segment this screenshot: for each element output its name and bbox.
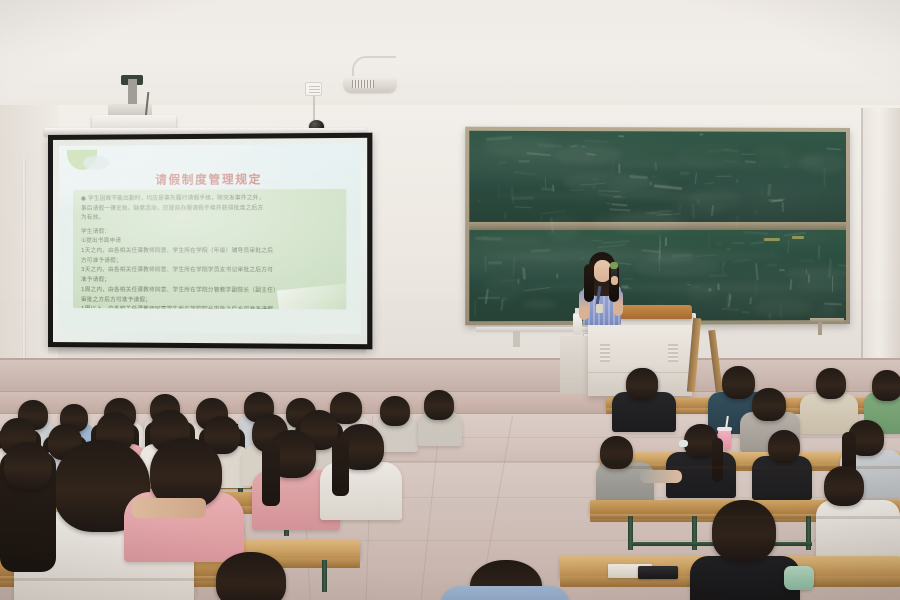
screen-shadow (48, 345, 366, 355)
blackboard-surface (469, 131, 846, 321)
student-head[interactable] (722, 366, 755, 399)
chalk-smudge (521, 300, 556, 309)
desk-shadow[interactable] (0, 578, 250, 581)
slide-line: 准予请假； (81, 277, 338, 285)
chalk-mark (504, 212, 506, 220)
slide-line: 学生请假： (81, 228, 338, 235)
chalk-smudge (546, 215, 578, 241)
face-mask[interactable] (679, 440, 688, 447)
chalk-mark-yellow (792, 236, 804, 239)
chalk-tray-support (818, 322, 822, 335)
right-pillar-edge (861, 108, 863, 396)
ceiling-speaker-icon (344, 76, 396, 92)
chalk-tray (810, 318, 844, 323)
slide-title: 请假制度管理规定 (59, 171, 361, 188)
student-body[interactable] (816, 500, 900, 560)
blackboard (465, 127, 850, 326)
slide-line: ①提出书面申请 (81, 238, 338, 245)
student-arm[interactable] (640, 470, 682, 483)
slide-line: 为有效。 (81, 215, 338, 223)
chalk-smudge (795, 279, 846, 291)
chalk-smudge (800, 153, 845, 173)
slide-line: 1天之内，由各相关任课教师同意、学生所在学院（年级）辅导员审批之后 (81, 248, 338, 255)
student-head[interactable] (752, 388, 786, 421)
chalk-mark (817, 245, 819, 259)
classroom-photo: 请假制度管理规定 ● 学生因故不能出勤时，均应是事先履行请假手续，除突发事件之外… (0, 0, 900, 600)
podium-vent-right (668, 344, 678, 362)
chalk-mark (680, 171, 689, 174)
student-head[interactable] (824, 466, 864, 506)
chalk-mark (782, 201, 784, 211)
presenter (575, 252, 631, 324)
chalk-mark (658, 235, 660, 242)
slide-decoration-bubble (83, 156, 109, 170)
chalk-smudge (554, 145, 621, 164)
student-head[interactable] (424, 390, 454, 420)
chalk-smudge (821, 303, 837, 315)
backpack[interactable] (784, 566, 814, 590)
chalk-mark (518, 160, 529, 162)
chalk-smudge (784, 268, 846, 279)
chalk-mark (801, 259, 814, 262)
speaker-wire (352, 56, 396, 78)
chalk-mark (726, 296, 728, 308)
slide-line: 方可准予请假； (81, 258, 338, 266)
right-pillar (862, 108, 900, 396)
student-head[interactable] (600, 436, 633, 469)
desk-leg[interactable] (322, 560, 327, 592)
shelf-support-arm (513, 331, 520, 347)
presenter-hair-left (584, 264, 594, 302)
student-head[interactable] (626, 368, 658, 400)
student-head[interactable] (712, 500, 776, 562)
presenter-hand (611, 276, 618, 285)
student-head[interactable] (816, 368, 846, 399)
chalk-mark (717, 242, 722, 245)
slide-line: ● 学生因故不能出勤时，均应是事先履行请假手续，除突发事件之外， (81, 195, 338, 203)
student-long-hair[interactable] (262, 444, 280, 506)
chalk-mark-yellow (764, 238, 780, 241)
smartphone[interactable] (638, 566, 678, 579)
slide-content: 请假制度管理规定 ● 学生因故不能出勤时，均应是事先履行请假手续，除突发事件之外… (59, 144, 361, 334)
student-long-hair[interactable] (332, 438, 349, 496)
projector-mount-pole (128, 79, 137, 107)
chalk-mark (778, 269, 784, 271)
chalk-smudge (753, 300, 813, 317)
chalk-mark (556, 274, 559, 279)
podium-side-panel (560, 336, 590, 394)
wall-conduit-pipe (22, 158, 26, 358)
slide-line: 3天之内，由各相关任课教师同意、学生所在学院学员支书记审批之后方可 (81, 267, 338, 275)
chalk-smudge (563, 172, 649, 192)
student-head[interactable] (4, 442, 52, 490)
chalk-smudge (754, 146, 791, 159)
desk-shadow[interactable] (606, 466, 900, 469)
power-outlet-icon[interactable] (305, 82, 322, 96)
student-head[interactable] (768, 430, 800, 463)
chalk-mark (484, 257, 486, 272)
id-badge (596, 304, 603, 313)
student-head[interactable] (380, 396, 410, 426)
student-head[interactable] (216, 552, 286, 600)
student-body[interactable] (440, 586, 570, 600)
student-ponytail[interactable] (712, 438, 723, 482)
chalk-mark (728, 293, 731, 302)
slide-line: 事后请假一律无效。缺席活动，应提前办理请假手续并获得批准之后方 (81, 205, 338, 213)
slide-body: ● 学生因故不能出勤时，均应是事先履行请假手续，除突发事件之外， 事后请假一律无… (73, 189, 346, 309)
screen-surface: 请假制度管理规定 ● 学生因故不能出勤时，均应是事先履行请假手续，除突发事件之外… (53, 138, 367, 344)
projection-screen[interactable]: 请假制度管理规定 ● 学生因故不能出勤时，均应是事先履行请假手续，除突发事件之外… (48, 133, 372, 350)
chalk-smudge (484, 276, 523, 302)
desk-shadow[interactable] (590, 516, 900, 519)
chalk-mark (618, 135, 624, 138)
podium-vent-left (600, 344, 610, 362)
student-head[interactable] (872, 370, 900, 401)
chalk-mark (474, 301, 476, 317)
student-arm[interactable] (132, 498, 206, 518)
microphone-head (610, 262, 618, 269)
